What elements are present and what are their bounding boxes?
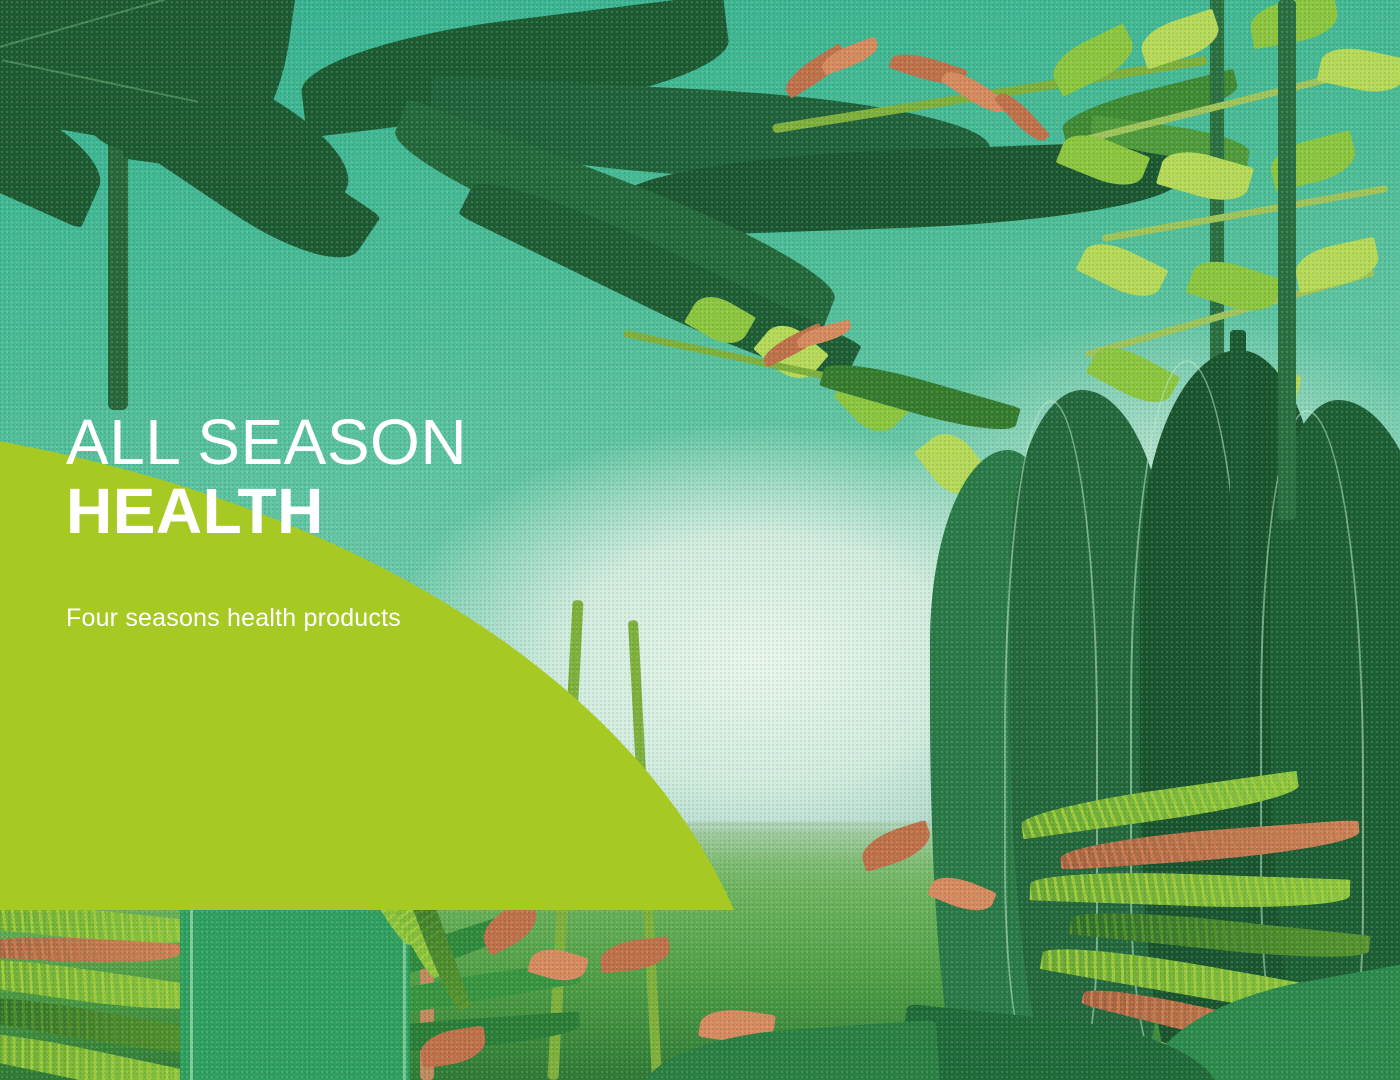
headline-block: ALL SEASON HEALTH Four seasons health pr…: [66, 408, 666, 634]
headline-line-2: HEALTH: [66, 476, 666, 546]
subtitle: Four seasons health products: [66, 602, 666, 634]
spray-leaf: [1292, 237, 1382, 294]
spray-leaf: [1156, 143, 1254, 208]
tall-stem: [1278, 0, 1296, 520]
fern-frond: [1030, 868, 1351, 911]
spray-leaf: [1046, 23, 1141, 97]
spray-leaf: [1317, 42, 1400, 99]
spray-leaf: [1075, 234, 1168, 307]
headline-line-1: ALL SEASON: [66, 408, 666, 476]
hero-banner: ALL SEASON HEALTH Four seasons health pr…: [0, 0, 1400, 1080]
seed-pod: [818, 36, 881, 75]
seed-pod: [795, 319, 853, 348]
